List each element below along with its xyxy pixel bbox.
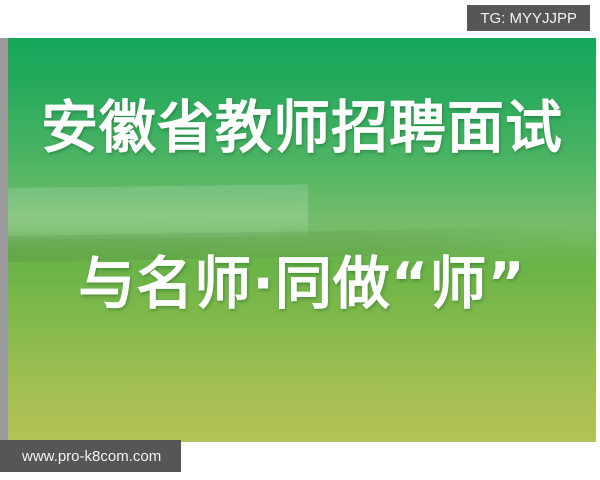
- green-gradient-banner: 安徽省教师招聘面试 与名师·同做“师”: [8, 38, 596, 442]
- telegram-watermark-badge: TG: MYYJJPP: [467, 5, 590, 31]
- headline-line-2: 与名师·同做“师”: [8, 256, 596, 313]
- left-edge-bar: [0, 38, 8, 442]
- headline-block: 安徽省教师招聘面试 与名师·同做“师”: [8, 38, 596, 442]
- site-url-watermark-badge: www.pro-k8com.com: [0, 440, 181, 472]
- headline-line-1: 安徽省教师招聘面试: [8, 100, 596, 157]
- promo-banner-image: 安徽省教师招聘面试 与名师·同做“师” TG: MYYJJPP www.pro-…: [0, 0, 600, 480]
